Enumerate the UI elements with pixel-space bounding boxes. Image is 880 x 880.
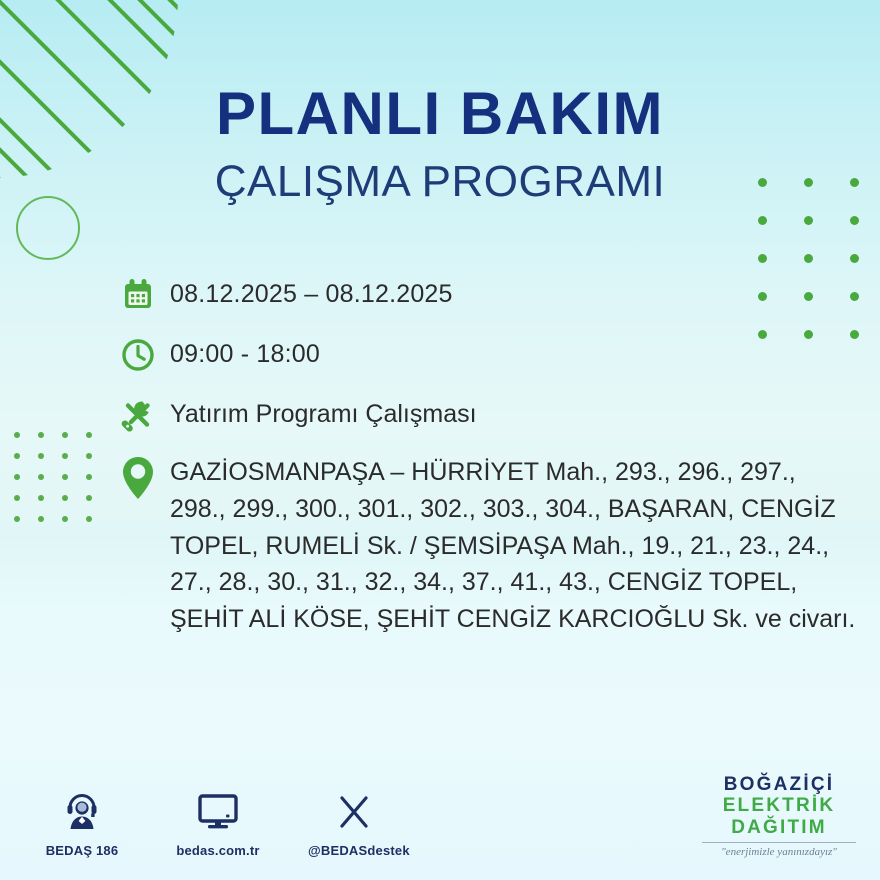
address-value: GAZİOSMANPAŞA – HÜRRİYET Mah., 293., 296… <box>170 452 858 638</box>
brand-logo: BOĞAZİÇİ ELEKTRİK DAĞITIM "enerjimizle y… <box>696 774 862 858</box>
dot-grid-left-decoration <box>14 432 110 537</box>
title-subtitle: ÇALIŞMA PROGRAMI <box>0 160 880 204</box>
page-title: PLANLI BAKIM ÇALIŞMA PROGRAMI <box>0 84 880 204</box>
info-list: 08.12.2025 – 08.12.2025 09:00 - 18:00 <box>118 272 858 638</box>
info-row-address: GAZİOSMANPAŞA – HÜRRİYET Mah., 293., 296… <box>118 452 858 638</box>
brand-line-3: DAĞITIM <box>696 817 862 838</box>
circle-outline-decoration <box>16 196 80 260</box>
contact-phone[interactable]: BEDAŞ 186 <box>36 789 128 858</box>
info-row-date: 08.12.2025 – 08.12.2025 <box>118 272 858 318</box>
calendar-icon <box>118 272 170 318</box>
call-center-agent-icon <box>36 789 128 835</box>
contact-social[interactable]: @BEDASdestek <box>308 789 400 858</box>
clock-icon <box>118 332 170 378</box>
contact-phone-label: BEDAŞ 186 <box>36 843 128 858</box>
time-range-value: 09:00 - 18:00 <box>170 332 320 371</box>
footer-contacts: BEDAŞ 186 bedas.com.tr <box>36 789 400 858</box>
title-main: PLANLI BAKIM <box>0 84 880 144</box>
x-twitter-icon <box>308 789 400 835</box>
brand-divider <box>702 842 856 843</box>
location-pin-icon <box>118 452 170 506</box>
info-row-work-type: Yatırım Programı Çalışması <box>118 392 858 438</box>
date-range-value: 08.12.2025 – 08.12.2025 <box>170 272 453 311</box>
monitor-icon <box>172 789 264 835</box>
info-row-time: 09:00 - 18:00 <box>118 332 858 378</box>
contact-website-label: bedas.com.tr <box>172 843 264 858</box>
work-type-value: Yatırım Programı Çalışması <box>170 392 477 431</box>
brand-line-1: BOĞAZİÇİ <box>696 774 862 795</box>
brand-line-2: ELEKTRİK <box>696 795 862 816</box>
tools-icon <box>118 392 170 438</box>
contact-website[interactable]: bedas.com.tr <box>172 789 264 858</box>
contact-social-label: @BEDASdestek <box>308 843 400 858</box>
brand-tagline: "enerjimizle yanınızdayız" <box>696 846 862 858</box>
poster-canvas: PLANLI BAKIM ÇALIŞMA PROGRAMI <box>0 0 880 880</box>
